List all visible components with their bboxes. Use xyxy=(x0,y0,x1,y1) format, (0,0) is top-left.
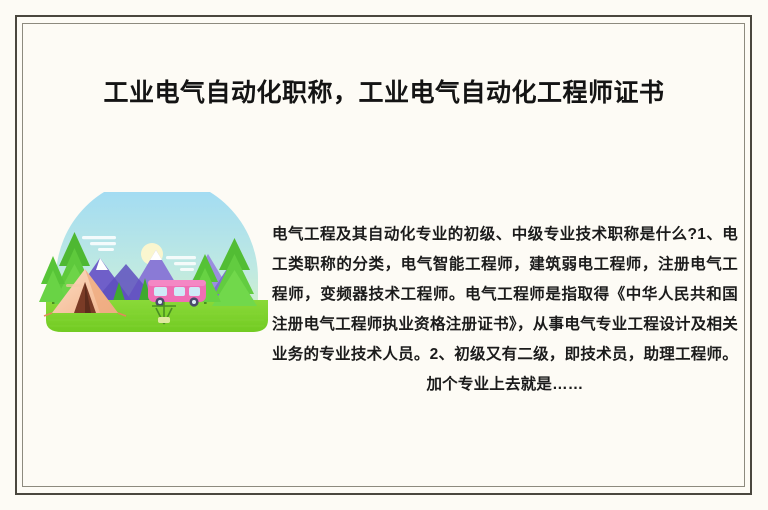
content-area: 电气工程及其自动化专业的初级、中级专业技术职称是什么?1、电工类职称的分类，电气… xyxy=(38,192,738,422)
camping-scene-illustration xyxy=(38,192,276,352)
page-title: 工业电气自动化职称，工业电气自动化工程师证书 xyxy=(40,76,728,110)
article-card: 工业电气自动化职称，工业电气自动化工程师证书 xyxy=(0,0,768,510)
article-body-text: 电气工程及其自动化专业的初级、中级专业技术职称是什么?1、电工类职称的分类，电气… xyxy=(272,220,738,400)
